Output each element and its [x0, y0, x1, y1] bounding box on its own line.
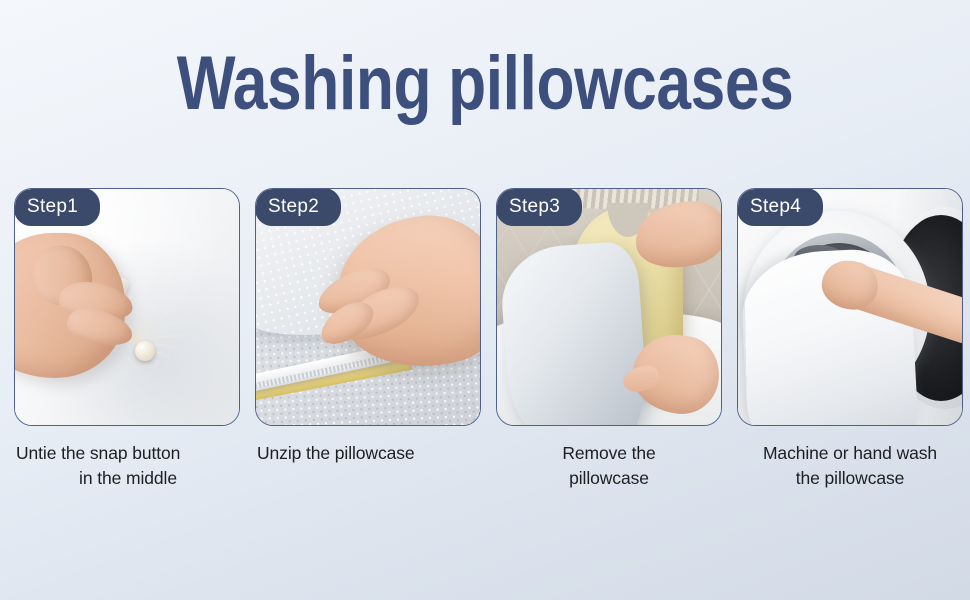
- step-image-card-4: Step4: [737, 188, 963, 426]
- caption-line: Untie the snap button: [16, 441, 240, 466]
- step-caption-4: Machine or hand wash the pillowcase: [737, 441, 963, 491]
- step-badge-3: Step3: [496, 188, 582, 226]
- step-badge-1: Step1: [14, 188, 100, 226]
- step-caption-1: Untie the snap button in the middle: [14, 441, 240, 491]
- caption-line: Remove the: [496, 441, 722, 466]
- step-image-card-2: Step2: [255, 188, 481, 426]
- step-badge-4: Step4: [737, 188, 823, 226]
- snap-button-icon: [135, 341, 155, 361]
- steps-row: Step1 Untie the snap button in the middl: [14, 188, 958, 491]
- step-image-card-3: Step3: [496, 188, 722, 426]
- caption-line: in the middle: [16, 466, 240, 491]
- caption-line: the pillowcase: [737, 466, 963, 491]
- infographic-poster: Washing pillowcases Step1: [0, 0, 970, 600]
- step-card-4: Step4 Machine or hand wash: [737, 188, 963, 491]
- step-image-card-1: Step1: [14, 188, 240, 426]
- caption-line: Unzip the pillowcase: [257, 441, 481, 466]
- page-title: Washing pillowcases: [177, 44, 794, 124]
- step-card-2: Step2 Unzip the pillowcase: [255, 188, 481, 491]
- title-container: Washing pillowcases: [0, 44, 970, 124]
- step-card-3: Step3 Remove the pillowcase: [496, 188, 722, 491]
- step-caption-3: Remove the pillowcase: [496, 441, 722, 491]
- caption-line: Machine or hand wash: [737, 441, 963, 466]
- pillowcase-fabric: [498, 240, 649, 425]
- step-badge-2: Step2: [255, 188, 341, 226]
- step-caption-2: Unzip the pillowcase: [255, 441, 481, 466]
- step-card-1: Step1 Untie the snap button in the middl: [14, 188, 240, 491]
- caption-line: pillowcase: [496, 466, 722, 491]
- feather-strands-icon: [133, 339, 135, 341]
